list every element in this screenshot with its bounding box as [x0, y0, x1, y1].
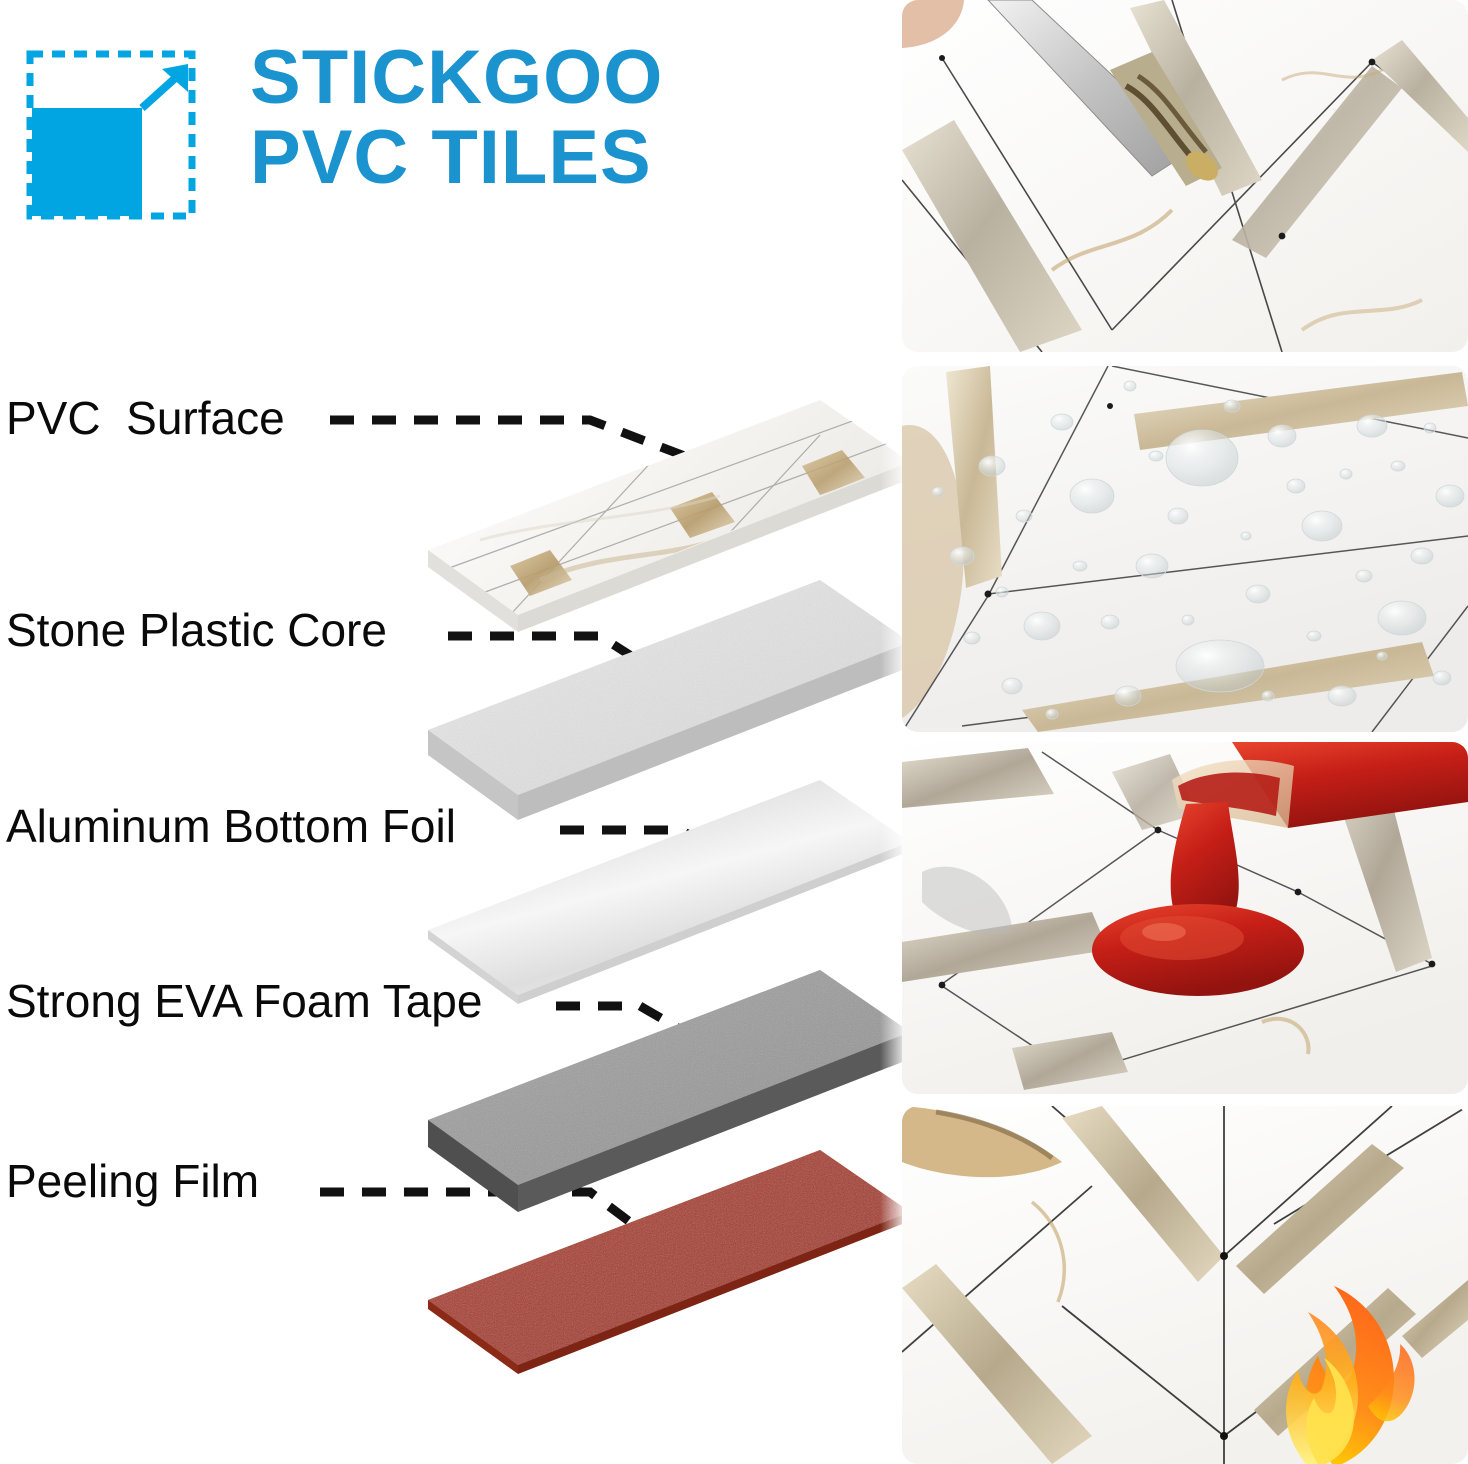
layer-aluminum-bottom-foil: [428, 780, 910, 1004]
waterproof-photo: [902, 366, 1468, 732]
layer-label-aluminum-bottom-foil: Aluminum Bottom Foil: [6, 800, 456, 852]
square-growth-arrow-icon: [22, 46, 212, 224]
stain-resistance-photo: [902, 742, 1468, 1094]
layer-label-stone-plastic-core: Stone Plastic Core: [6, 604, 387, 656]
scratch-resistance-photo: [902, 0, 1468, 352]
brand-line-1: STICKGOO: [250, 38, 790, 118]
infographic-page: STICKGOO PVC TILES PVC Surface Stone Pla…: [0, 0, 1468, 1464]
fire-resistance-photo: [902, 1106, 1468, 1464]
layer-label-pvc-surface: PVC Surface: [6, 392, 285, 444]
exploded-layer-stack: [390, 400, 910, 1430]
layer-label-peeling-film: Peeling Film: [6, 1155, 259, 1207]
brand-block: STICKGOO PVC TILES: [18, 38, 798, 248]
brand-line-2: PVC TILES: [250, 118, 790, 198]
brand-wordmark: STICKGOO PVC TILES: [250, 38, 790, 198]
